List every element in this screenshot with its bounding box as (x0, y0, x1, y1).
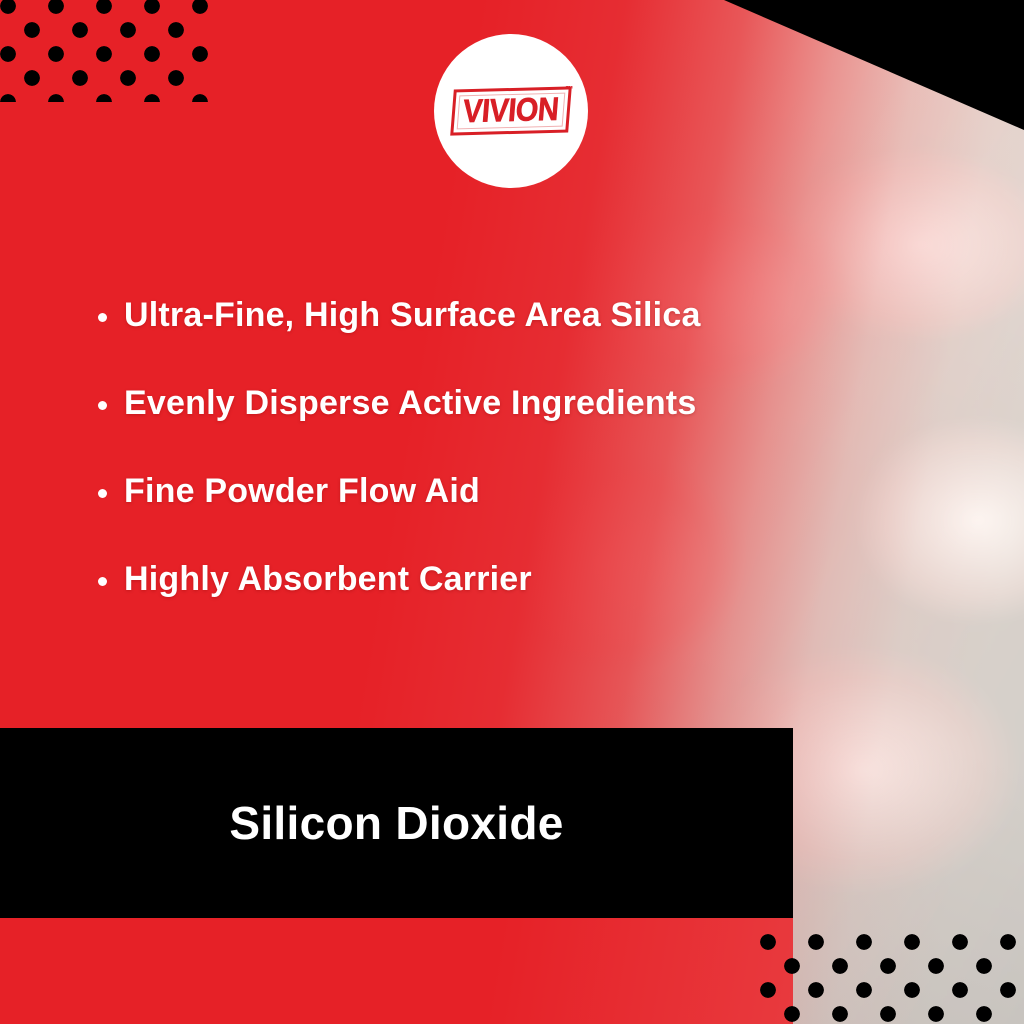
list-item: Evenly Disperse Active Ingredients (98, 384, 858, 422)
page-title: Silicon Dioxide (229, 796, 563, 850)
dot-pattern-top-left (0, 0, 210, 102)
dot-pattern-bottom-right (756, 930, 1024, 1024)
bullet-dot-icon (98, 577, 107, 586)
product-title-bar: Silicon Dioxide (0, 728, 793, 918)
list-item: Highly Absorbent Carrier (98, 560, 858, 598)
bullet-dot-icon (98, 313, 107, 322)
trademark-symbol: ™ (565, 84, 573, 93)
bullet-dot-icon (98, 401, 107, 410)
vivion-logo-badge: VIVION ™ (434, 34, 588, 188)
feature-label: Ultra-Fine, High Surface Area Silica (124, 296, 701, 334)
red-panel-bottom-strip (0, 916, 793, 1024)
bullet-dot-icon (98, 489, 107, 498)
list-item: Fine Powder Flow Aid (98, 472, 858, 510)
logo-wordmark: VIVION (462, 93, 560, 128)
feature-label: Highly Absorbent Carrier (124, 560, 532, 598)
feature-list: Ultra-Fine, High Surface Area Silica Eve… (98, 296, 858, 648)
feature-label: Fine Powder Flow Aid (124, 472, 480, 510)
promo-graphic: VIVION ™ Ultra-Fine, High Surface Area S… (0, 0, 1024, 1024)
vivion-logo-mark: VIVION ™ (451, 86, 570, 135)
list-item: Ultra-Fine, High Surface Area Silica (98, 296, 858, 334)
feature-label: Evenly Disperse Active Ingredients (124, 384, 696, 422)
